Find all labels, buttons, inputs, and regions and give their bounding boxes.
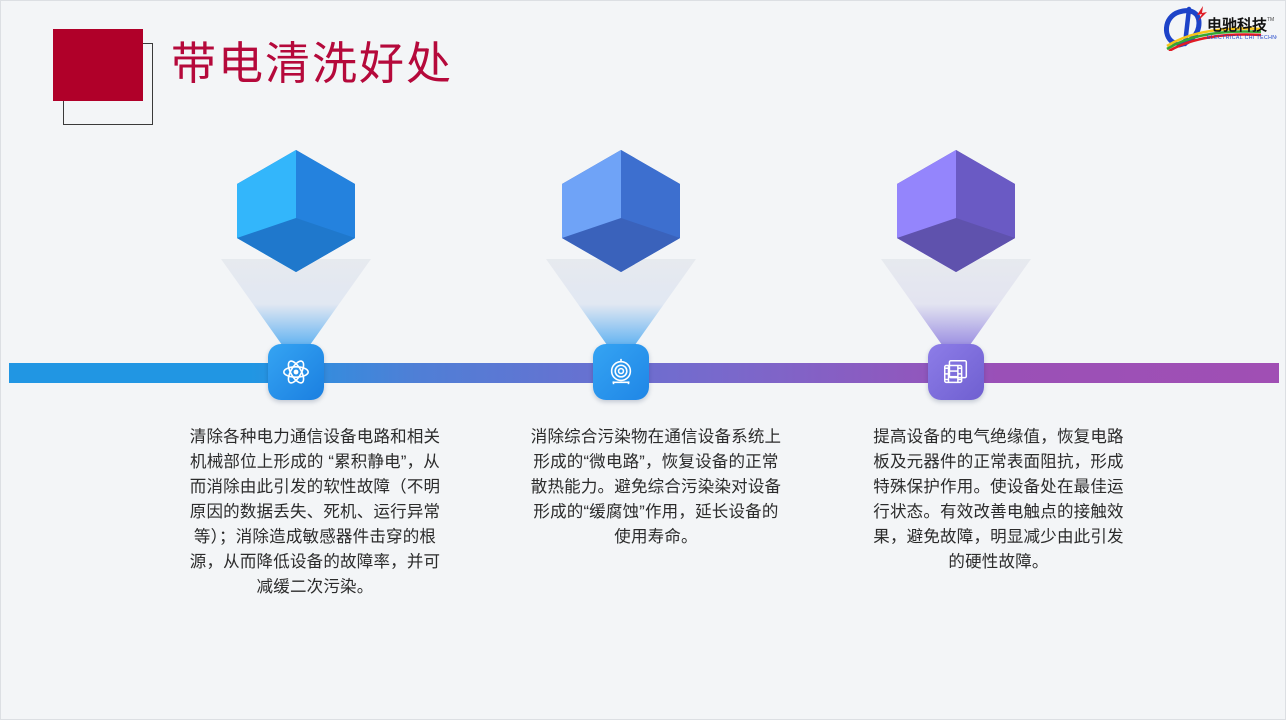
node-icon-badge-3[interactable]	[928, 344, 984, 400]
logo-brand-cn-text: 电驰科技	[1207, 16, 1268, 34]
timeline-node-2: 消除综合污染物在通信设备系统上形成的“微电路”，恢复设备的正常散热能力。避免综合…	[471, 1, 771, 720]
logo-mark: 电驰科技 ELECTRICAL CHI TECHNOLOGY TM	[1155, 3, 1277, 51]
film-strip-icon	[941, 357, 971, 387]
cube-graphic-3	[891, 146, 1021, 276]
node-icon-badge-2[interactable]	[593, 344, 649, 400]
cube-graphic-1	[231, 146, 361, 276]
logo-brand-en-text: ELECTRICAL CHI TECHNOLOGY	[1207, 35, 1277, 41]
cube-graphic-2	[556, 146, 686, 276]
decorative-square-solid	[53, 29, 143, 101]
node-body-text-3: 提高设备的电气绝缘值，恢复电路板及元器件的正常表面阻抗，形成特殊保护作用。使设备…	[856, 425, 1141, 575]
company-logo: 电驰科技 ELECTRICAL CHI TECHNOLOGY TM	[1155, 3, 1277, 51]
timeline-node-1: 清除各种电力通信设备电路和相关机械部位上形成的 “累积静电”，从而消除由此引发的…	[146, 1, 446, 720]
atom-icon	[281, 357, 311, 387]
node-body-text-2: 消除综合污染物在通信设备系统上形成的“微电路”，恢复设备的正常散热能力。避免综合…	[516, 425, 796, 550]
logo-trademark-text: TM	[1267, 17, 1274, 23]
node-body-text-1: 清除各种电力通信设备电路和相关机械部位上形成的 “累积静电”，从而消除由此引发的…	[176, 425, 454, 600]
slide-canvas: 带电清洗好处 电驰科技 ELECTRICAL CHI TECHNOLOGY TM	[0, 0, 1286, 720]
timeline-node-3: 提高设备的电气绝缘值，恢复电路板及元器件的正常表面阻抗，形成特殊保护作用。使设备…	[806, 1, 1106, 720]
target-circles-icon	[606, 357, 636, 387]
node-icon-badge-1[interactable]	[268, 344, 324, 400]
